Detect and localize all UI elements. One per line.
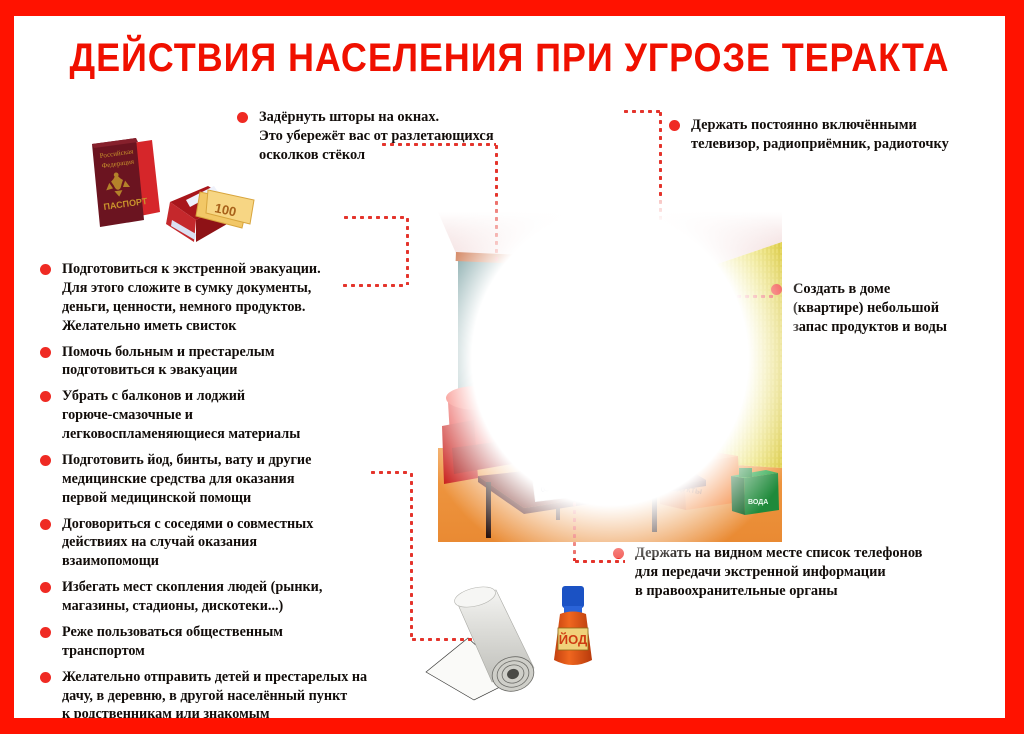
list-item: Желательно отправить детей и престарелых… bbox=[38, 668, 398, 718]
room-illustration: ПРОДУКТЫ ВОДА bbox=[438, 212, 782, 542]
iodine-label: ЙОД bbox=[559, 632, 588, 647]
poster-frame: ДЕЙСТВИЯ НАСЕЛЕНИЯ ПРИ УГРОЗЕ ТЕРАКТА Ро… bbox=[0, 0, 1024, 734]
leader-line-tv-v bbox=[659, 110, 662, 356]
list-item: Реже пользоваться общественным транспорт… bbox=[38, 623, 398, 661]
tip-curtains: Задёрнуть шторы на окнах. Это убережёт в… bbox=[235, 108, 535, 174]
leader-line-supplies-v bbox=[711, 295, 714, 429]
tip-media: Держать постоянно включёнными телевизор,… bbox=[667, 116, 997, 163]
phone-list-note: Телефоны 02-01-02 03-04-01 bbox=[530, 450, 601, 502]
main-recommendation-list: Подготовиться к экстренной эвакуации. Дл… bbox=[38, 260, 398, 718]
iodine-bottle: ЙОД bbox=[554, 586, 592, 665]
leader-line-supplies-h bbox=[711, 295, 777, 298]
leader-line-docs-v bbox=[406, 216, 409, 285]
tip-supplies: Создать в доме (квартире) небольшой запа… bbox=[769, 280, 999, 346]
list-item: Подготовиться к экстренной эвакуации. Дл… bbox=[38, 260, 398, 336]
bullet-phone-list: Держать на видном месте список телефонов… bbox=[611, 544, 1001, 601]
water-box: ВОДА bbox=[731, 468, 779, 515]
water-box-label: ВОДА bbox=[748, 499, 768, 506]
list-item: Подготовить йод, бинты, вату и другие ме… bbox=[38, 451, 398, 508]
poster-sheet: ДЕЙСТВИЯ НАСЕЛЕНИЯ ПРИ УГРОЗЕ ТЕРАКТА Ро… bbox=[14, 16, 1005, 718]
leader-line-docs-h2 bbox=[342, 216, 408, 219]
list-item: Договориться с соседями о совместных дей… bbox=[38, 515, 398, 572]
documents-illustration: Российская Федерация ПАСПОРТ bbox=[78, 128, 258, 250]
bullet-curtains: Задёрнуть шторы на окнах. Это убережёт в… bbox=[235, 108, 535, 165]
leader-line-meds-v bbox=[410, 471, 413, 639]
leader-line-phones-v bbox=[573, 468, 576, 561]
bullet-supplies: Создать в доме (квартире) небольшой запа… bbox=[769, 280, 999, 337]
list-item: Убрать с балконов и лоджий горюче-смазоч… bbox=[38, 387, 398, 444]
bullet-media: Держать постоянно включёнными телевизор,… bbox=[667, 116, 997, 154]
page-title: ДЕЙСТВИЯ НАСЕЛЕНИЯ ПРИ УГРОЗЕ ТЕРАКТА bbox=[64, 36, 956, 81]
list-item: Избегать мест скопления людей (рынки, ма… bbox=[38, 578, 398, 616]
list-item: Помочь больным и престарелым подготовить… bbox=[38, 343, 398, 381]
leader-line-meds-h2 bbox=[410, 638, 472, 641]
tip-phone-list: Держать на видном месте список телефонов… bbox=[611, 544, 1001, 610]
leader-line-tv-h bbox=[622, 110, 660, 113]
